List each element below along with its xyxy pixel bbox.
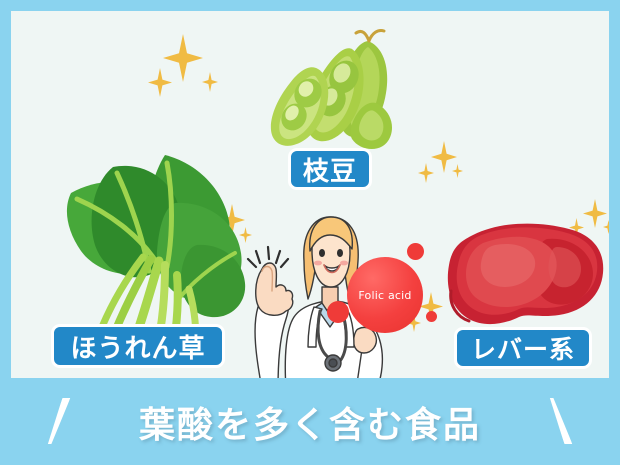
label-spinach-text: ほうれん草	[70, 328, 205, 365]
edamame-illustration	[256, 25, 406, 155]
folic-acid-satellite-left	[327, 301, 349, 323]
liver-illustration	[443, 217, 608, 337]
sparkle-icon	[148, 68, 172, 97]
label-spinach[interactable]: ほうれん草	[51, 324, 225, 368]
label-liver-text: レバー系	[471, 330, 575, 366]
folic-acid-infographic: Folic acid ほうれん草 枝豆 レバー系 葉酸を多く含む食品	[0, 0, 620, 465]
bottom-banner: 葉酸を多く含む食品	[0, 378, 620, 465]
folic-acid-label: Folic acid	[358, 289, 411, 302]
content-panel: Folic acid ほうれん草 枝豆 レバー系	[11, 11, 609, 378]
label-liver[interactable]: レバー系	[454, 327, 592, 369]
sparkle-icon	[452, 164, 463, 178]
label-edamame-text: 枝豆	[303, 151, 357, 188]
folic-acid-ball: Folic acid	[347, 257, 423, 333]
label-edamame[interactable]: 枝豆	[288, 148, 372, 190]
folic-acid-satellite-small	[426, 311, 437, 322]
banner-title: 葉酸を多く含む食品	[139, 396, 481, 448]
sparkle-icon	[431, 141, 457, 173]
sparkle-icon	[202, 72, 218, 92]
folic-acid-satellite-large	[407, 243, 424, 260]
sparkle-icon	[418, 163, 434, 183]
sparkle-icon	[163, 34, 203, 82]
